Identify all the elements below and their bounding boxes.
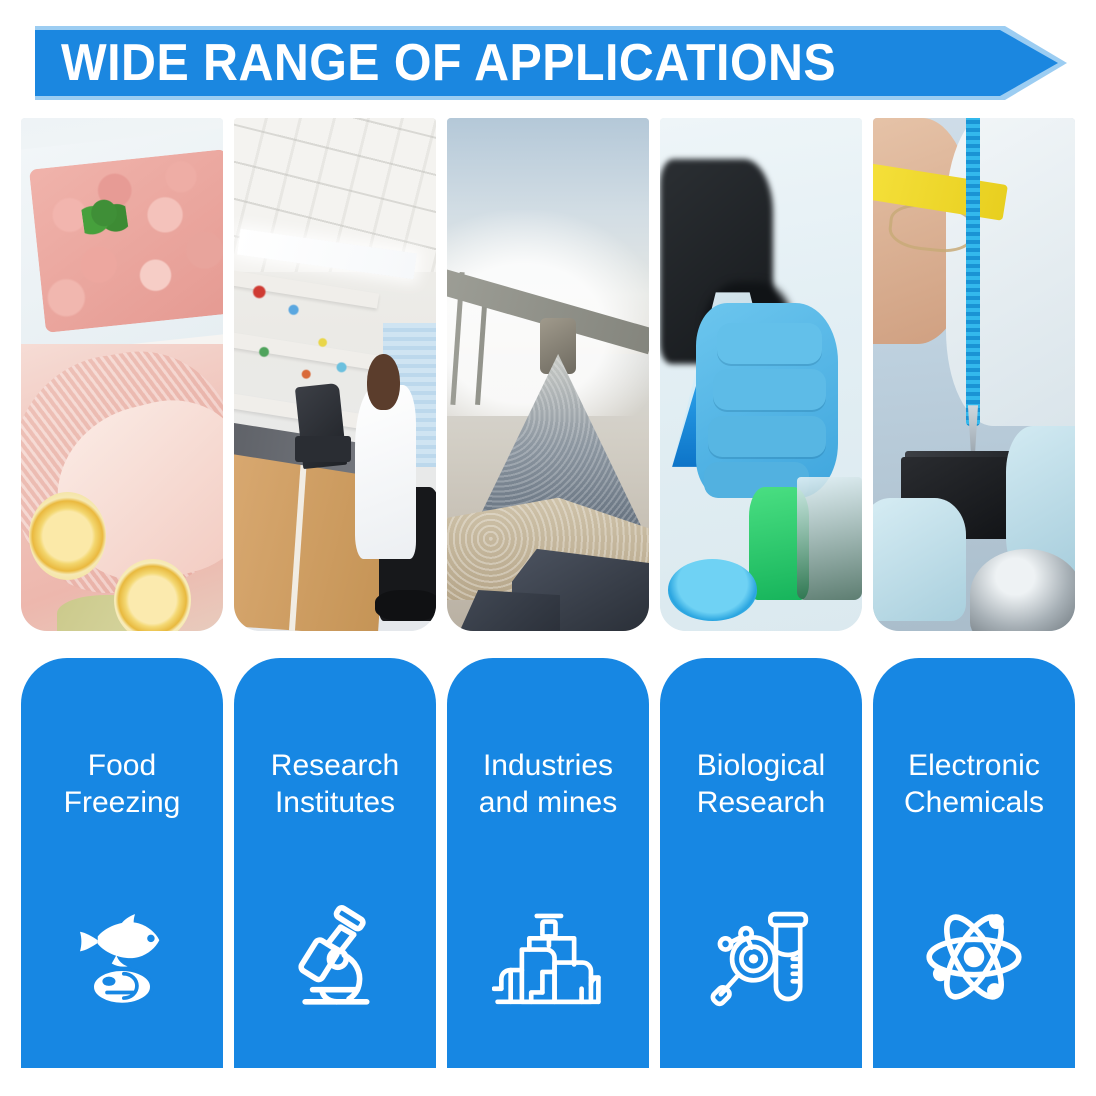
card-label-biological-research: Biological Research (691, 748, 831, 821)
application-column-biological-research: Biological Research (660, 118, 862, 1068)
industrial-plant-icon (492, 901, 604, 1013)
card-electronic-chemicals[interactable]: Electronic Chemicals (873, 658, 1075, 1068)
card-research-institutes[interactable]: Research Institutes (234, 658, 436, 1068)
card-label-industries-and-mines: Industries and mines (473, 748, 623, 821)
photo-industries-and-mines (447, 118, 649, 631)
card-label-food-freezing: Food Freezing (58, 748, 187, 821)
card-biological-research[interactable]: Biological Research (660, 658, 862, 1068)
card-label-research-institutes: Research Institutes (265, 748, 405, 821)
fish-and-meat-icon (66, 901, 178, 1013)
card-label-electronic-chemicals: Electronic Chemicals (898, 748, 1050, 821)
magnifier-test-tube-icon (705, 901, 817, 1013)
application-column-food-freezing: Food Freezing (21, 118, 223, 1068)
banner-arrow-fill: WIDE RANGE OF APPLICATIONS (35, 30, 1058, 96)
card-industries-and-mines[interactable]: Industries and mines (447, 658, 649, 1068)
application-column-industries-and-mines: Industries and mines (447, 118, 649, 1068)
atom-icon (918, 901, 1030, 1013)
page-title: WIDE RANGE OF APPLICATIONS (35, 37, 836, 89)
photo-food-freezing (21, 118, 223, 631)
photo-electronic-chemicals (873, 118, 1075, 631)
card-food-freezing[interactable]: Food Freezing (21, 658, 223, 1068)
application-grid: Food Freezing (0, 118, 1096, 1068)
header-banner: WIDE RANGE OF APPLICATIONS (35, 26, 1067, 100)
microscope-icon (279, 901, 391, 1013)
photo-research-institutes (234, 118, 436, 631)
application-column-electronic-chemicals: Electronic Chemicals (873, 118, 1075, 1068)
photo-biological-research (660, 118, 862, 631)
application-column-research-institutes: Research Institutes (234, 118, 436, 1068)
